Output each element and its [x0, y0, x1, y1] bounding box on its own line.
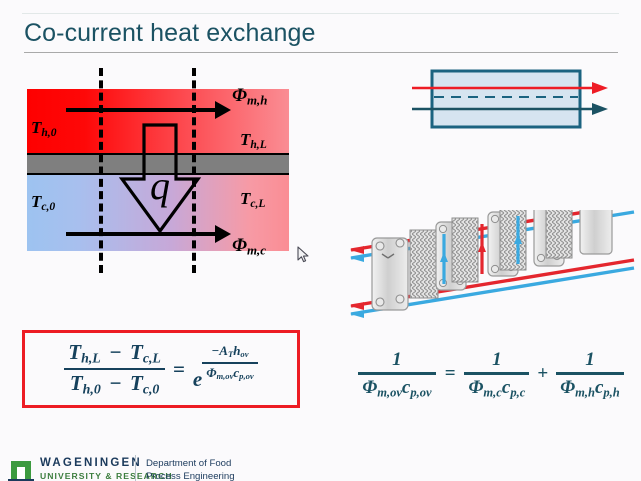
plus-sign: + [537, 363, 548, 385]
department-name: Department of Food Process Engineering [146, 458, 235, 481]
footer-divider [135, 455, 136, 481]
top-divider [22, 13, 619, 14]
equals-sign: = [173, 357, 185, 382]
exp-base: e [193, 367, 202, 394]
heat-flux-arrow-icon: q [118, 123, 202, 235]
fraction-denominator: Th,0 − Tc,0 [66, 372, 164, 397]
term-overall: 1 Φm,ovcp,ov [358, 349, 435, 399]
fraction-numerator: Th,L − Tc,L [64, 341, 165, 366]
term-cold-bar [464, 372, 529, 375]
term-hot-numerator: 1 [581, 349, 599, 370]
cold-outlet-temp-label: Tc,L [240, 189, 265, 210]
hot-mass-flow-label: Φm,h [232, 85, 267, 109]
main-equation-box: Th,L − Tc,L Th,0 − Tc,0 = e −AThov [22, 330, 300, 408]
term-hot-denominator: Φm,hcp,h [556, 377, 624, 399]
tube-schematic [410, 55, 640, 145]
hot-outlet-temp-label: Th,L [240, 130, 267, 151]
slide-canvas: Co-current heat exchange q Th,0 Tc,0 Th,… [0, 0, 641, 481]
hot-inlet-temp-label: Th,0 [31, 118, 56, 139]
term-cold-denominator: Φm,ccp,c [464, 377, 529, 399]
temperature-ratio-fraction: Th,L − Tc,L Th,0 − Tc,0 [64, 341, 165, 398]
title-divider [24, 52, 618, 53]
term-overall-bar [358, 372, 435, 375]
hot-flow-arrow-line [66, 108, 216, 112]
exponent-fraction-bar [202, 362, 258, 365]
term-hot-bar [556, 372, 624, 375]
hot-flow-arrow-head [215, 101, 231, 119]
term-overall-denominator: Φm,ovcp,ov [358, 377, 435, 399]
exponential-term: e −AThov Φm,ovcp,ov [193, 344, 258, 394]
section-dashed-line-left [99, 68, 103, 273]
exponent-fraction: −AThov Φm,ovcp,ov [202, 344, 258, 382]
term-cold: 1 Φm,ccp,c [464, 349, 529, 399]
plate-heat-exchanger-illustration [348, 210, 641, 335]
cold-mass-flow-label: Φm,c [232, 235, 266, 259]
page-title: Co-current heat exchange [24, 19, 315, 48]
exponent-numerator: −AThov [207, 344, 252, 360]
main-equation: Th,L − Tc,L Th,0 − Tc,0 = e −AThov [25, 333, 297, 405]
term-cold-numerator: 1 [488, 349, 506, 370]
heat-flux-label: q [150, 163, 170, 208]
slide-footer: WAGENINGEN UNIVERSITY & RESEARCH Departm… [0, 452, 641, 481]
wageningen-logo-icon [8, 460, 34, 481]
exponent-denominator: Φm,ovcp,ov [202, 366, 258, 382]
overall-capacity-equation: 1 Φm,ovcp,ov = 1 Φm,ccp,c + 1 Φm,hcp,h [346, 340, 636, 408]
cold-flow-arrow-head [215, 225, 231, 243]
mouse-cursor-icon [297, 246, 311, 264]
department-line-1: Department of Food [146, 458, 235, 471]
equals-sign-right: = [445, 363, 456, 385]
fraction-bar [64, 368, 165, 371]
cold-inlet-temp-label: Tc,0 [31, 192, 55, 213]
department-line-2: Process Engineering [146, 471, 235, 481]
term-hot: 1 Φm,hcp,h [556, 349, 624, 399]
term-overall-numerator: 1 [388, 349, 406, 370]
